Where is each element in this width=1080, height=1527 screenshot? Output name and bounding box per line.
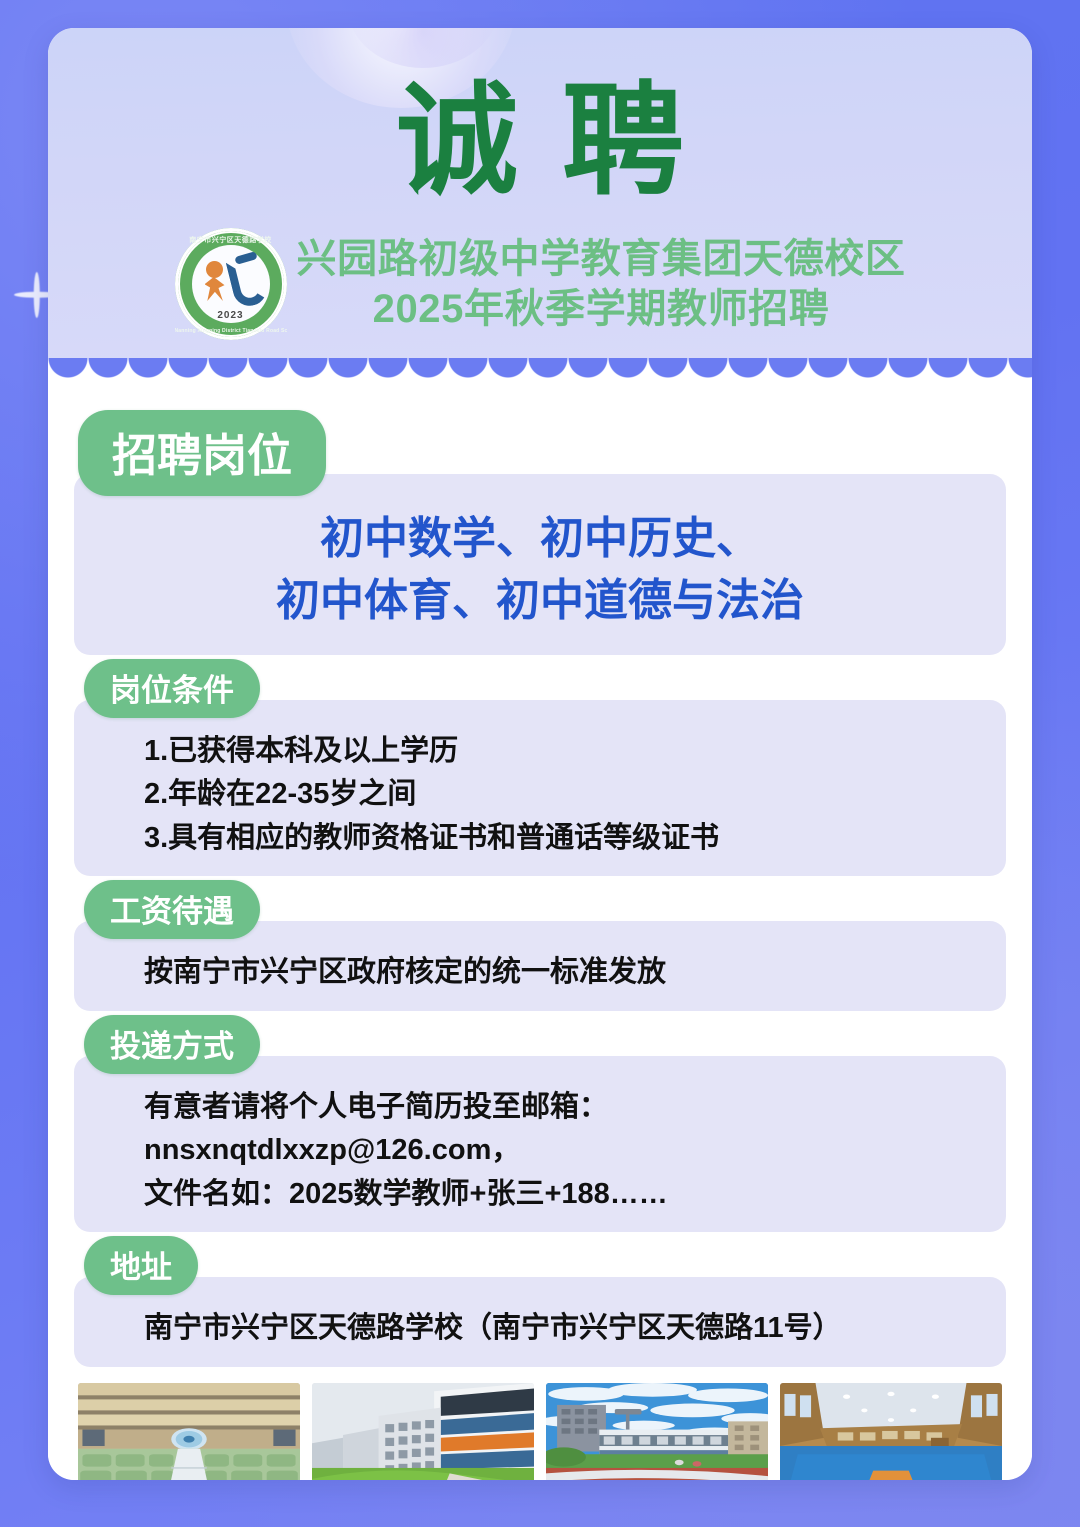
page-title: 诚聘 [48,28,1032,202]
section-conditions: 岗位条件 1.已获得本科及以上学历 2.年龄在22-35岁之间 3.具有相应的教… [74,659,1006,877]
subtitle-row: 南宁市兴宁区天德路学校 2023 Nanning Xingning Distri… [48,228,1032,340]
section-positions: 招聘岗位 初中数学、初中历史、 初中体育、初中道德与法治 [74,410,1006,655]
section-address: 地址 南宁市兴宁区天德路学校（南宁市兴宁区天德路11号） [74,1236,1006,1367]
campus-building-photo [312,1383,534,1480]
section-salary: 工资待遇 按南宁市兴宁区政府核定的统一标准发放 [74,880,1006,1011]
campus-photo-grid [74,1383,1006,1480]
subtitle-block: 兴园路初级中学教育集团天德校区 2025年秋季学期教师招聘 [297,234,906,335]
auditorium-photo [78,1383,300,1480]
section-label-positions: 招聘岗位 [78,410,326,496]
recruitment-poster: 诚聘 南宁市兴宁区天德路学校 2023 Nanning Xingning Dis… [0,0,1080,1527]
salary-text: 按南宁市兴宁区政府核定的统一标准发放 [100,951,980,995]
poster-body: 招聘岗位 初中数学、初中历史、 初中体育、初中道德与法治 岗位条件 1.已获得本… [48,388,1032,1480]
positions-line-1: 初中数学、初中历史、 [100,508,980,570]
subtitle-line-1: 兴园路初级中学教育集团天德校区 [297,234,906,284]
section-submission: 投递方式 有意者请将个人电子简历投至邮箱： nnsxnqtdlxxzp@126.… [74,1015,1006,1233]
condition-item: 2.年龄在22-35岁之间 [100,773,980,817]
condition-item: 1.已获得本科及以上学历 [100,730,980,774]
panel-positions: 初中数学、初中历史、 初中体育、初中道德与法治 [74,474,1006,655]
submission-filename-format: 文件名如：2025数学教师+张三+188…… [100,1173,980,1217]
condition-item: 3.具有相应的教师资格证书和普通话等级证书 [100,817,980,861]
address-text: 南宁市兴宁区天德路学校（南宁市兴宁区天德路11号） [100,1307,980,1351]
section-label-submission: 投递方式 [84,1015,260,1074]
positions-line-2: 初中体育、初中道德与法治 [100,570,980,632]
emblem-year: 2023 [175,310,287,321]
subtitle-line-2: 2025年秋季学期教师招聘 [297,284,906,334]
panel-conditions: 1.已获得本科及以上学历 2.年龄在22-35岁之间 3.具有相应的教师资格证书… [74,700,1006,877]
panel-address: 南宁市兴宁区天德路学校（南宁市兴宁区天德路11号） [74,1277,1006,1367]
school-emblem-logo: 南宁市兴宁区天德路学校 2023 Nanning Xingning Distri… [175,228,287,340]
section-label-salary: 工资待遇 [84,880,260,939]
poster-header: 诚聘 南宁市兴宁区天德路学校 2023 Nanning Xingning Dis… [48,28,1032,358]
panel-submission: 有意者请将个人电子简历投至邮箱： nnsxnqtdlxxzp@126.com， … [74,1056,1006,1233]
submission-instruction: 有意者请将个人电子简历投至邮箱： [100,1086,980,1130]
scallop-divider [48,358,1032,388]
emblem-school-name-en: Nanning Xingning District Tiandelu Road … [175,328,287,334]
section-label-address: 地址 [84,1236,198,1295]
poster-card: 诚聘 南宁市兴宁区天德路学校 2023 Nanning Xingning Dis… [48,28,1032,1480]
sports-track-photo [546,1383,768,1480]
section-label-conditions: 岗位条件 [84,659,260,718]
emblem-figure-head-icon [206,261,223,278]
emblem-school-name-cn: 南宁市兴宁区天德路学校 [175,235,287,245]
indoor-gym-photo [780,1383,1002,1480]
submission-email[interactable]: nnsxnqtdlxxzp@126.com， [100,1129,980,1173]
